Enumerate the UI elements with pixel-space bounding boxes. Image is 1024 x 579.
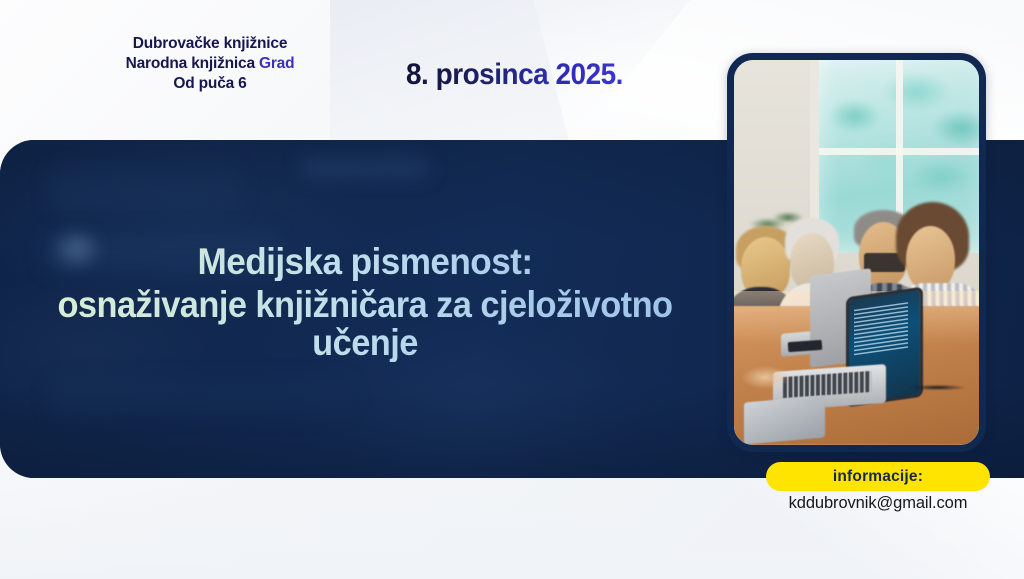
ghost-shape <box>50 380 350 414</box>
org-line-2: Narodna knjižnica Grad <box>95 54 325 74</box>
org-line-1: Dubrovačke knjižnice <box>95 34 325 54</box>
org-line-3: Od puča 6 <box>95 74 325 94</box>
photo-cable <box>906 380 970 395</box>
title-line-1: Medijska pismenost: <box>18 243 712 281</box>
photo-person <box>906 226 955 291</box>
organization-address-block: Dubrovačke knjižnice Narodna knjižnica G… <box>95 34 325 93</box>
event-photo <box>734 60 979 445</box>
org-line-2-accent: Grad <box>259 55 294 72</box>
window-mullion <box>817 148 979 155</box>
poster-canvas: Dubrovačke knjižnice Narodna knjižnica G… <box>0 0 1024 579</box>
ghost-shape <box>300 158 430 178</box>
contact-email[interactable]: kddubrovnik@gmail.com <box>740 494 1016 513</box>
title-line-2: osnaživanje knjižničara za cjeloživotno … <box>26 286 705 362</box>
event-title: Medijska pismenost: osnaživanje knjižnič… <box>0 243 730 362</box>
org-line-2-prefix: Narodna knjižnica <box>126 55 259 72</box>
ghost-shape <box>50 168 240 212</box>
photo-tablet <box>744 395 825 444</box>
event-date: 8. prosinca 2025. <box>406 58 623 92</box>
info-badge: informacije: <box>766 462 990 491</box>
photo-laptop-screen-text <box>854 303 908 357</box>
info-label: informacije: <box>833 468 923 486</box>
event-photo-card <box>727 53 986 452</box>
